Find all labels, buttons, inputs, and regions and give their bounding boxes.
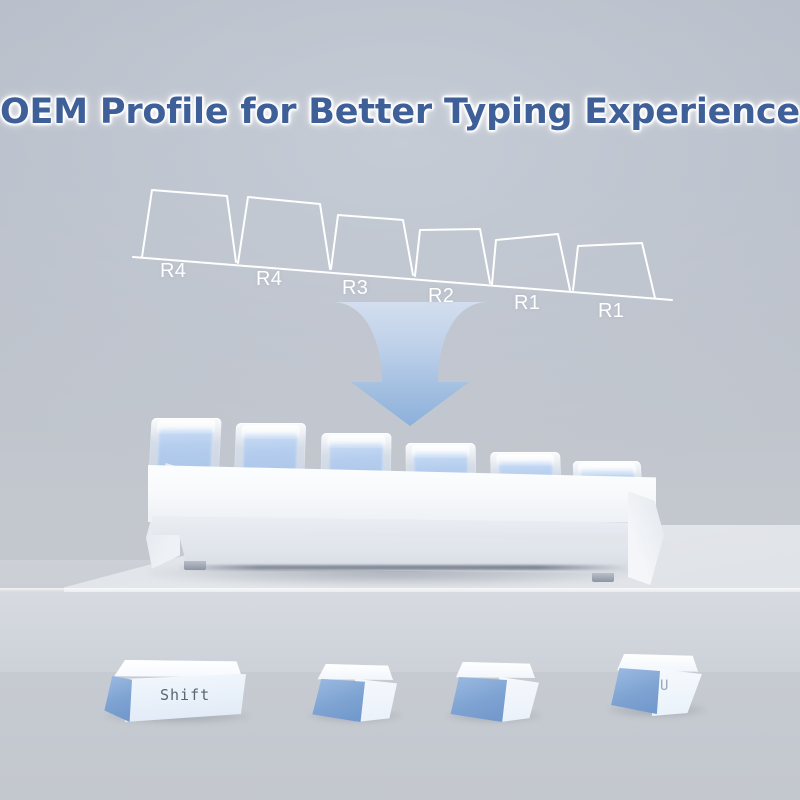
profile-shape-r4a: [142, 190, 236, 262]
profile-shape-r1b: [573, 243, 655, 298]
shift-keycap: Shift: [98, 658, 248, 724]
blank-keycap-1: [305, 662, 399, 724]
keyboard-foot-left: [184, 561, 206, 570]
page-title: OEM Profile for Better Typing Experience: [0, 92, 800, 132]
headline-banner: OEM Profile for Better Typing Experience: [0, 92, 800, 132]
profile-baseline: [133, 257, 672, 300]
profile-label-r1b: R1: [598, 300, 624, 323]
blank-keycap-2: [443, 660, 539, 724]
u-keycap: U: [604, 652, 704, 718]
keycap-legend: U: [660, 678, 669, 694]
profile-shape-r4b: [238, 197, 330, 269]
profile-shape-r1a: [492, 234, 570, 290]
keyboard-foot-right: [592, 573, 614, 582]
oem-keycap-row-profile-diagram: R4 R4 R3 R2 R1 R1: [130, 178, 675, 323]
keyboard-base-shadow-line: [178, 565, 628, 570]
profile-label-r4a: R4: [160, 260, 186, 283]
mechanical-keyboard: [140, 405, 660, 595]
keycap-gloss: [411, 445, 470, 457]
keycap-gloss: [578, 463, 636, 474]
profile-label-r1a: R1: [514, 292, 540, 315]
keyboard-case-right-side: [628, 485, 664, 585]
profile-label-r2: R2: [428, 285, 454, 308]
product-image-canvas: Shift U: [0, 0, 800, 800]
keycap-gloss: [327, 435, 386, 448]
keycap-legend: Shift: [160, 686, 210, 704]
keycap-gloss: [241, 425, 300, 439]
profile-shape-r2: [415, 229, 490, 283]
keycap-gloss: [496, 454, 555, 466]
keycap-gloss: [156, 420, 216, 434]
profile-label-r3: R3: [342, 277, 368, 300]
profile-label-r4b: R4: [256, 268, 282, 291]
profile-shape-r3: [331, 215, 413, 275]
